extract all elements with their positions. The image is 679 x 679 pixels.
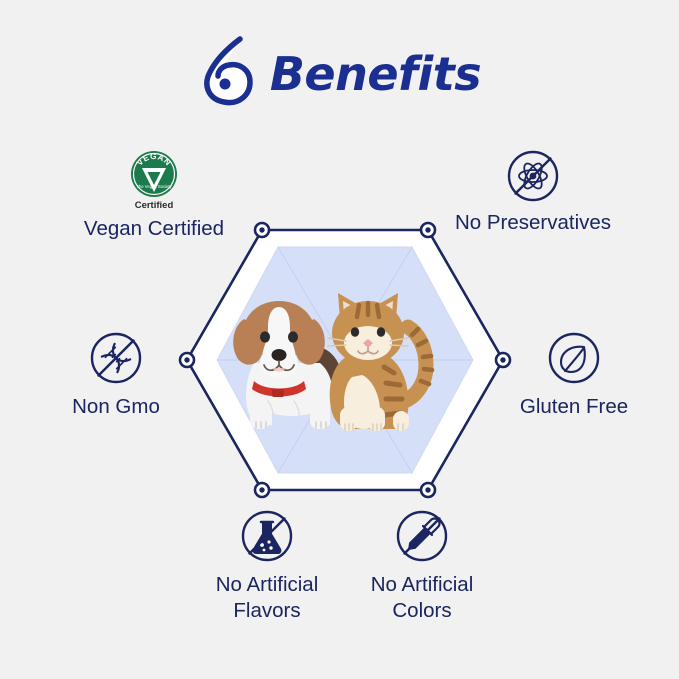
cat-eye-left [351, 327, 359, 337]
no-dna-icon [88, 330, 144, 386]
svg-text:The Vegan Society: The Vegan Society [136, 184, 172, 189]
dog-nose [272, 349, 287, 361]
no-atom-icon [505, 148, 561, 204]
benefit-label-gluten-free: Gluten Free [520, 394, 628, 420]
title-number-6 [198, 34, 258, 110]
prohibition-slash [516, 159, 551, 194]
benefit-label-vegan-certified: Vegan Certified [84, 216, 224, 242]
page-title: Benefits [0, 36, 679, 108]
beagle-dog [233, 301, 342, 429]
dog-and-cat-illustration [228, 285, 463, 450]
benefit-label-non-gmo: Non Gmo [72, 394, 160, 420]
benefit-no-artificial-flavors[interactable]: No Artificial Flavors [184, 508, 350, 623]
dog-eye-right [288, 331, 298, 342]
infographic-canvas: Benefits [0, 0, 679, 679]
no-flask-icon [239, 508, 295, 564]
benefit-gluten-free[interactable]: Gluten Free [494, 330, 654, 420]
cat-eye-right [377, 327, 385, 337]
title-word: Benefits [270, 51, 481, 97]
benefit-label-no-artificial-colors: No Artificial Colors [371, 572, 474, 623]
prohibition-slash [99, 341, 134, 376]
benefit-no-artificial-colors[interactable]: No Artificial Colors [346, 508, 498, 623]
vegan-certified-seal-icon: VEGAN The Vegan Society Certified [127, 148, 181, 212]
seal-caption: Certified [135, 200, 174, 211]
leaf-icon [546, 330, 602, 386]
dog-eye-left [260, 331, 270, 342]
prohibition-slash [405, 519, 440, 554]
tabby-cat [328, 293, 432, 431]
no-dropper-icon [394, 508, 450, 564]
benefit-vegan-certified[interactable]: VEGAN The Vegan Society Certified Vegan … [62, 148, 246, 242]
benefit-label-no-artificial-flavors: No Artificial Flavors [216, 572, 319, 623]
benefit-non-gmo[interactable]: Non Gmo [36, 330, 196, 420]
benefit-no-preservatives[interactable]: No Preservatives [428, 148, 638, 236]
benefit-label-no-preservatives: No Preservatives [455, 210, 611, 236]
